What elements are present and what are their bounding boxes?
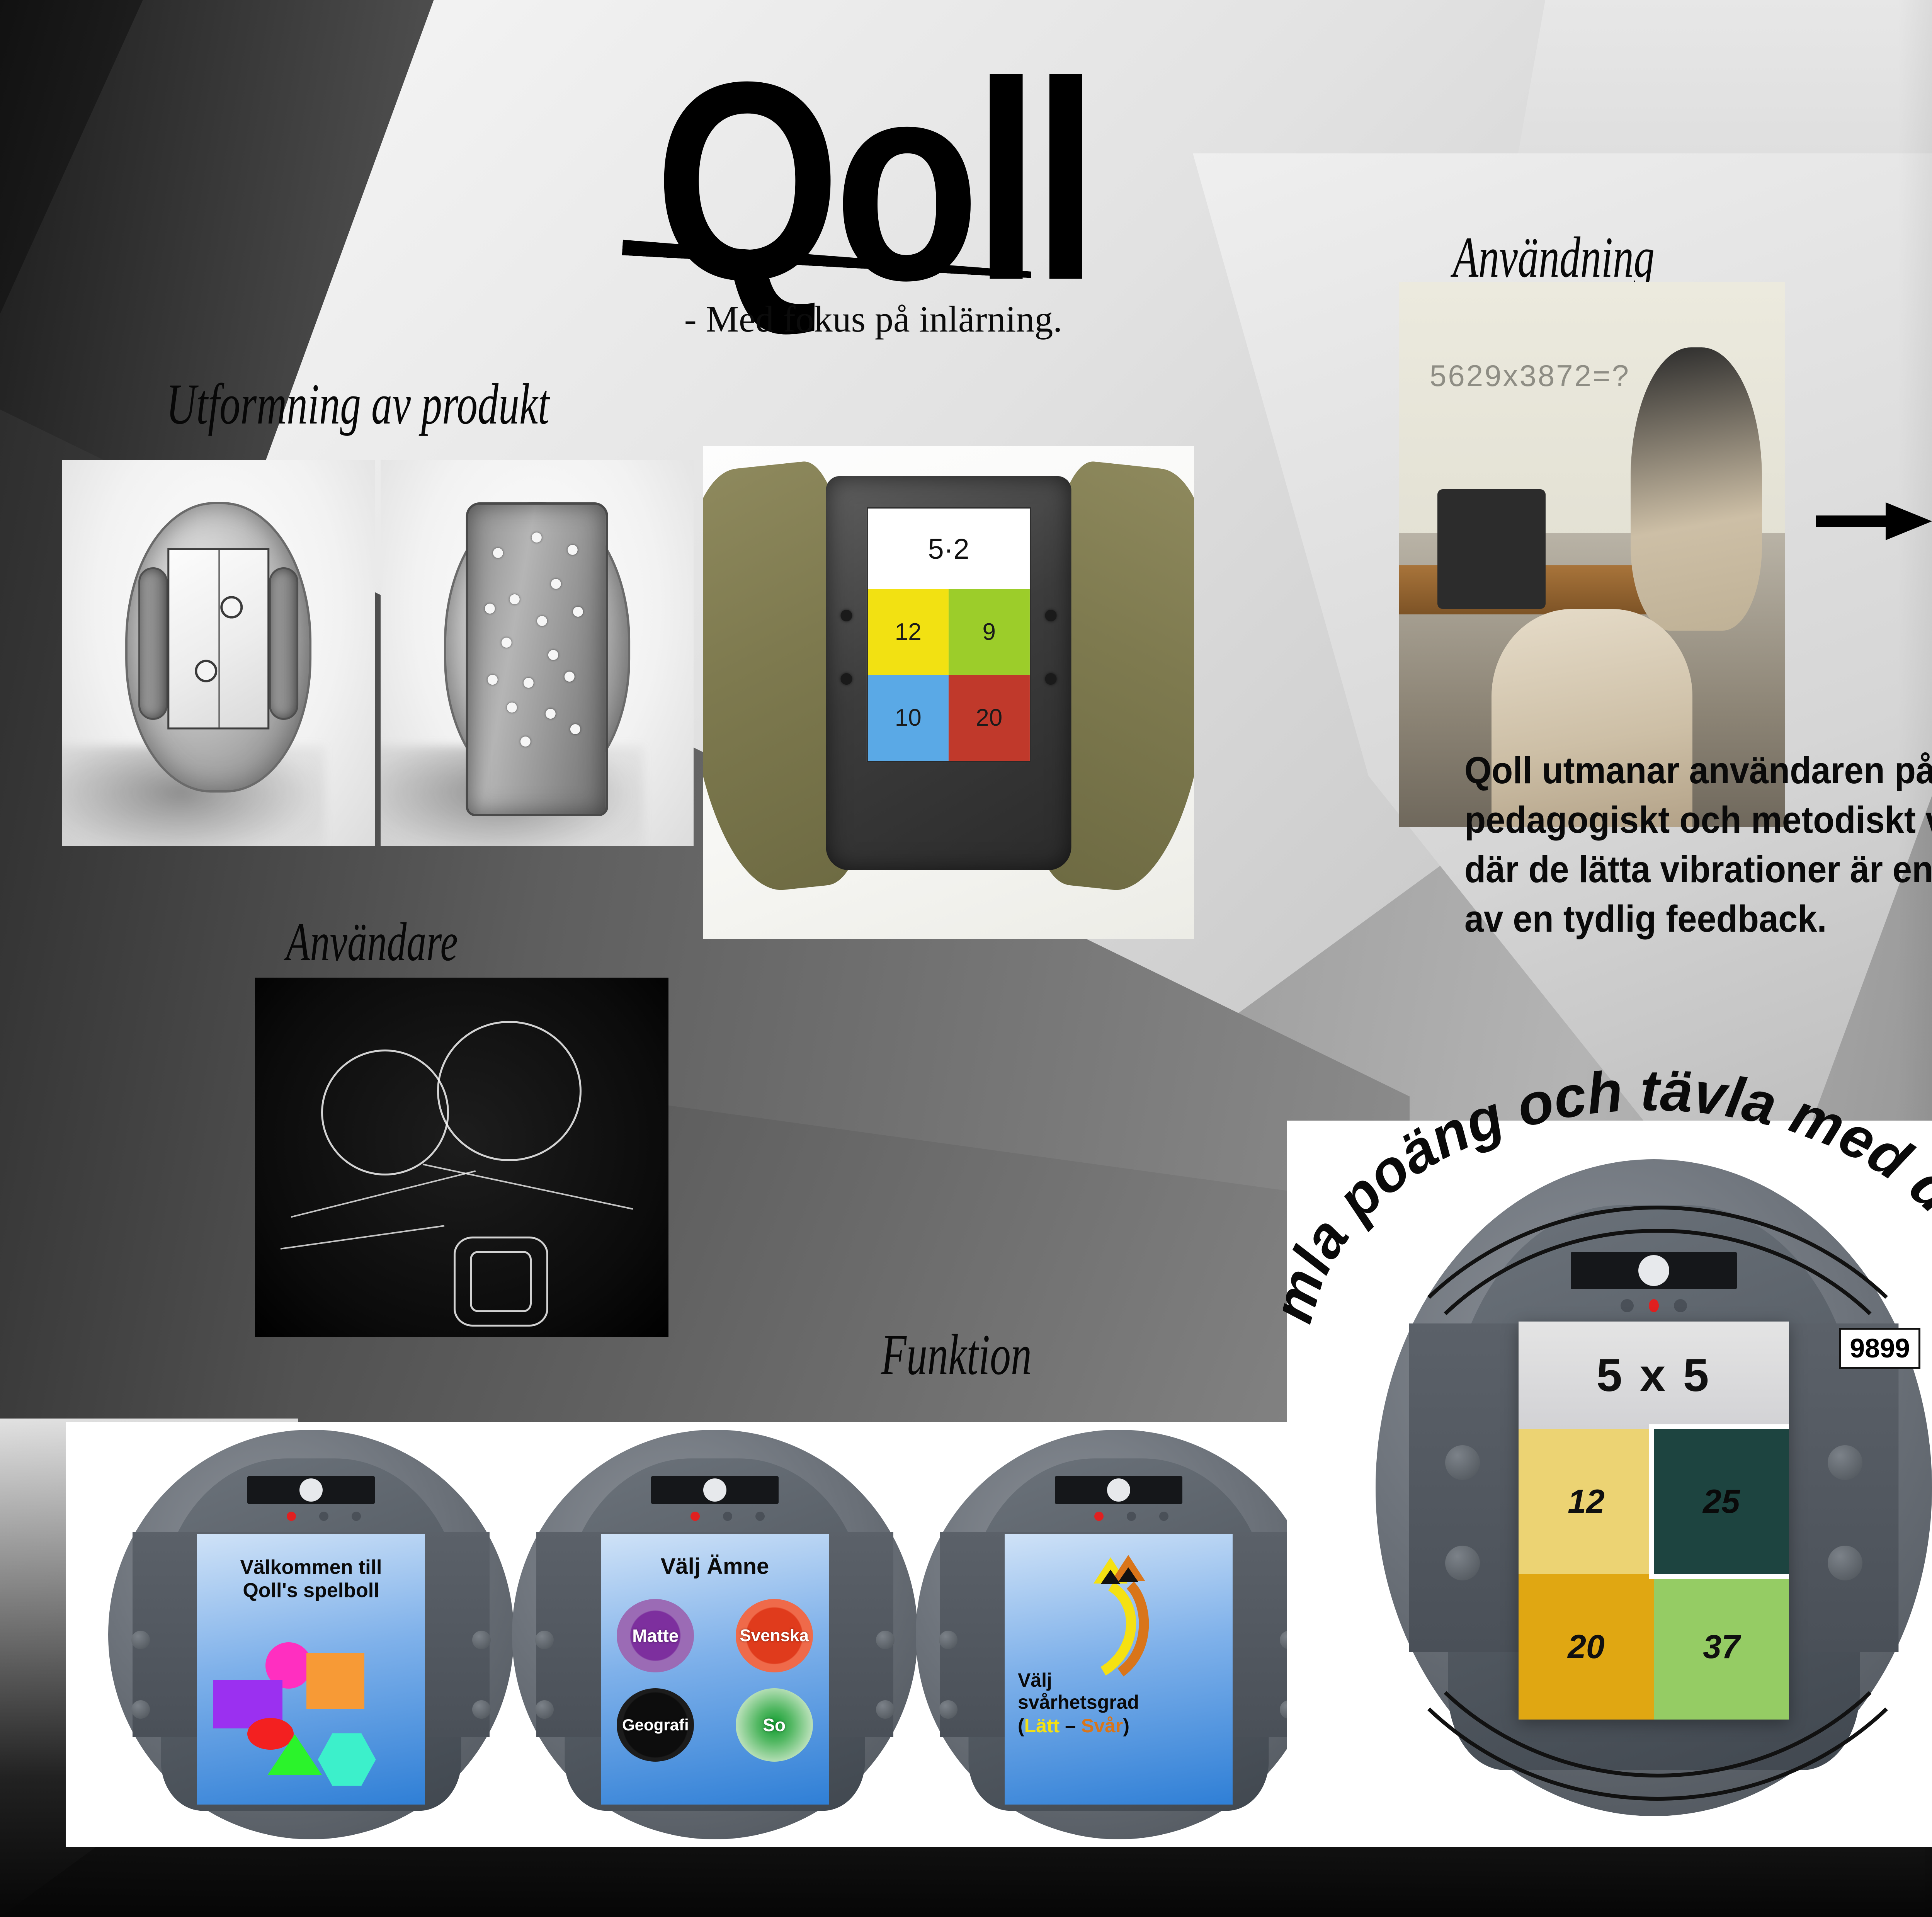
paren-open: ( [1018, 1715, 1024, 1737]
hero-question: 5 x 5 [1519, 1322, 1789, 1429]
welcome-title: Välkommen till Qoll's spelboll [197, 1556, 425, 1602]
function-device-welcome: Välkommen till Qoll's spelboll [108, 1430, 514, 1839]
subject-button-geografi[interactable]: Geografi [617, 1688, 694, 1762]
sketch-grip-right [269, 567, 298, 720]
poster-canvas: Qoll - Med fokus på inlärning. Utformnin… [0, 0, 1932, 1917]
difficulty-line-1: Välj [1018, 1669, 1219, 1691]
difficulty-easy: Lätt [1024, 1715, 1060, 1737]
brand-tagline: - Med fokus på inlärning. [603, 298, 1144, 340]
concept-answer-1[interactable]: 9 [949, 589, 1030, 675]
concept-answer-0[interactable]: 12 [867, 589, 949, 675]
screen-subject[interactable]: Välj Ämne Matte Svenska Geografi So [601, 1534, 829, 1805]
difficulty-title: Välj svårhetsgrad (Lätt – Svår) [1018, 1669, 1219, 1737]
concept-illustration: 5·2 12 9 10 20 [703, 446, 1194, 939]
hero-score-badge: 9899 [1839, 1328, 1920, 1369]
concept-answer-3[interactable]: 20 [949, 675, 1030, 761]
screen-difficulty[interactable]: Välj svårhetsgrad (Lätt – Svår) [1005, 1534, 1233, 1805]
subject-button-svenska[interactable]: Svenska [736, 1599, 813, 1672]
flow-arrow-icon [1816, 498, 1932, 545]
difficulty-hard: Svår [1081, 1715, 1123, 1737]
user-persona-sketch [255, 978, 668, 1337]
function-device-subject: Välj Ämne Matte Svenska Geografi So [512, 1430, 918, 1839]
hero-device: 5 x 5 12 25 20 37 9899 [1376, 1159, 1932, 1816]
led-red-icon-3 [1094, 1512, 1104, 1521]
section-heading-utformning: Utformning av produkt [166, 371, 549, 437]
difficulty-dash: – [1060, 1715, 1081, 1737]
shape-red-ellipse [247, 1718, 294, 1750]
camera-lens-icon [299, 1478, 323, 1502]
concept-answer-2[interactable]: 10 [867, 675, 949, 761]
sketch-knob-lower [195, 660, 217, 682]
hero-answer-grid: 12 25 20 37 [1519, 1429, 1789, 1720]
sketch-grip-left [138, 567, 168, 720]
camera-lens-icon-3 [1107, 1478, 1130, 1502]
hero-answer-12[interactable]: 12 [1519, 1429, 1654, 1574]
led-red-icon-2 [690, 1512, 700, 1521]
camera-lens-icon-2 [703, 1478, 726, 1502]
led-red-icon [287, 1512, 296, 1521]
section-heading-anvandare: Användare [286, 910, 458, 973]
section-heading-funktion-bottom: Funktion [881, 1322, 1032, 1388]
whiteboard-equation: 5629x3872=? [1430, 358, 1630, 393]
product-sketch-back [381, 460, 694, 846]
sketch-knob-upper [220, 596, 243, 619]
led-grey-icon-6 [1159, 1512, 1168, 1521]
product-sketch-front [62, 460, 375, 846]
function-device-difficulty: Välj svårhetsgrad (Lätt – Svår) [916, 1430, 1321, 1839]
subject-button-so[interactable]: So [736, 1688, 813, 1762]
led-grey-icon-5 [1127, 1512, 1136, 1521]
hero-answer-37[interactable]: 37 [1654, 1574, 1789, 1720]
subject-title: Välj Ämne [601, 1553, 829, 1579]
difficulty-line-2: svårhetsgrad [1018, 1691, 1219, 1713]
sketch-screen [167, 548, 269, 729]
led-grey-icon-3 [723, 1512, 732, 1521]
concept-question: 5·2 [867, 509, 1029, 589]
concept-answer-grid: 12 9 10 20 [867, 589, 1029, 761]
hero-answer-25-selected[interactable]: 25 [1654, 1429, 1789, 1574]
sketch-body-shape [125, 502, 311, 793]
paren-close: ) [1123, 1715, 1129, 1737]
hero-answer-20[interactable]: 20 [1519, 1574, 1654, 1720]
shape-orange-square [306, 1653, 364, 1709]
shape-cyan-hexagon [318, 1732, 376, 1788]
section-heading-anvandning: Användning [1453, 224, 1655, 291]
description-paragraph: Qoll utmanar användaren på ett pedagogis… [1464, 746, 1932, 944]
photo-classroom-whiteboard: 5629x3872=? [1399, 282, 1785, 827]
led-grey-icon-4 [755, 1512, 765, 1521]
hero-screen[interactable]: 5 x 5 12 25 20 37 [1519, 1322, 1789, 1720]
concept-device-body: 5·2 12 9 10 20 [826, 476, 1071, 870]
sketch-grip-tube [466, 502, 608, 816]
concept-device-screen: 5·2 12 9 10 20 [866, 507, 1031, 762]
led-grey-icon [319, 1512, 328, 1521]
subject-button-matte[interactable]: Matte [617, 1599, 694, 1672]
led-grey2-icon [352, 1512, 361, 1521]
screen-welcome[interactable]: Välkommen till Qoll's spelboll [197, 1534, 425, 1805]
brand-wordmark: Qoll [654, 54, 1092, 308]
